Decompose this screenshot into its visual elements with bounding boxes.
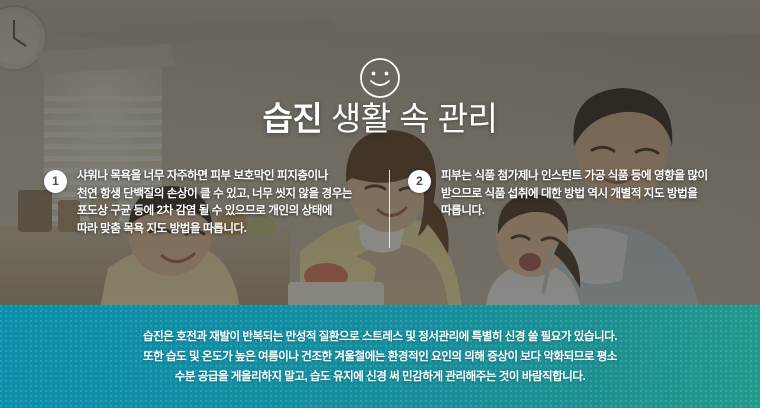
page-title-strong: 습진 — [262, 100, 322, 137]
points-section: 1 샤워나 목욕을 너무 자주하면 피부 보호막인 피지층이나 천연 항생 단백… — [0, 168, 760, 268]
point-2-line-3: 따릅니다. — [441, 203, 708, 221]
footer-line-1: 습진은 호전과 재발이 반복되는 만성적 질환으로 스트레스 및 정서관리에 특… — [143, 327, 617, 347]
footer-line-2: 또한 습도 및 온도가 높은 여름이나 건조한 겨울철에는 환경적인 요인의 의… — [143, 347, 617, 367]
footer-line-3: 수분 공급을 게을리하지 말고, 습도 유지에 신경 써 민감하게 관리해주는 … — [175, 367, 586, 387]
point-2-line-1: 피부는 식품 첨가제나 인스턴트 가공 식품 등에 영향을 많이 — [441, 168, 708, 186]
point-item-1: 1 샤워나 목욕을 너무 자주하면 피부 보호막인 피지층이나 천연 항생 단백… — [44, 168, 374, 238]
point-1-line-4: 따라 맞춤 목욕 지도 방법을 따릅니다. — [77, 221, 352, 239]
point-badge-2: 2 — [408, 170, 431, 193]
point-1-line-2: 천연 항생 단백질의 손상이 클 수 있고, 너무 씻지 않을 경우는 — [77, 186, 352, 204]
point-1-line-3: 포도상 구균 등에 2차 감염 될 수 있으므로 개인의 상태에 — [77, 203, 352, 221]
vertical-divider — [389, 170, 390, 248]
point-1-line-1: 샤워나 목욕을 너무 자주하면 피부 보호막인 피지층이나 — [77, 168, 352, 186]
page-title-rest: 생활 속 관리 — [331, 100, 498, 137]
point-text-1: 샤워나 목욕을 너무 자주하면 피부 보호막인 피지층이나 천연 항생 단백질의… — [77, 168, 352, 238]
page-title: 습진 생활 속 관리 — [0, 98, 760, 140]
health-info-banner: 습진 생활 속 관리 1 샤워나 목욕을 너무 자주하면 피부 보호막인 피지층… — [0, 0, 760, 408]
smiley-face-icon — [358, 56, 402, 100]
point-badge-1: 1 — [44, 170, 67, 193]
summary-footer: 습진은 호전과 재발이 반복되는 만성적 질환으로 스트레스 및 정서관리에 특… — [0, 305, 760, 408]
point-item-2: 2 피부는 식품 첨가제나 인스턴트 가공 식품 등에 영향을 많이 받으므로 … — [408, 168, 728, 221]
point-text-2: 피부는 식품 첨가제나 인스턴트 가공 식품 등에 영향을 많이 받으므로 식품… — [441, 168, 708, 221]
point-2-line-2: 받으므로 식품 섭취에 대한 방법 역시 개별적 지도 방법을 — [441, 186, 708, 204]
summary-footer-text: 습진은 호전과 재발이 반복되는 만성적 질환으로 스트레스 및 정서관리에 특… — [0, 305, 760, 408]
